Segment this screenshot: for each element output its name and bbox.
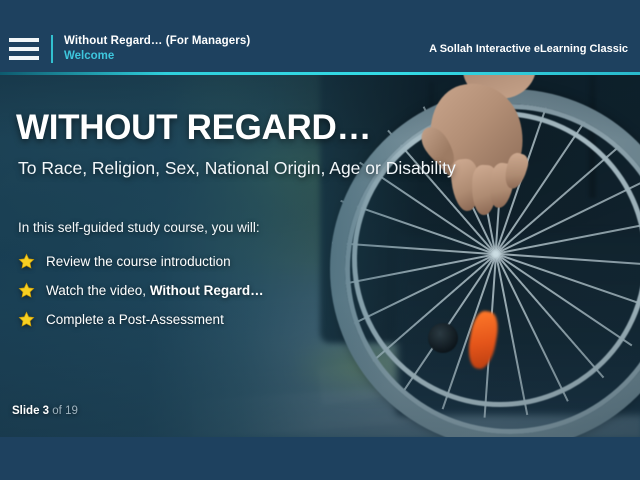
app-header: Without Regard… (For Managers) Welcome A… — [0, 0, 640, 74]
hamburger-bar-3 — [9, 56, 39, 60]
course-title: Without Regard… (For Managers) — [64, 36, 250, 48]
hamburger-bar-2 — [9, 47, 39, 51]
hamburger-menu-icon[interactable] — [9, 38, 39, 60]
elearning-slide-player: Without Regard… (For Managers) Welcome A… — [0, 0, 640, 480]
header-accent-rule — [0, 72, 640, 75]
list-item: Review the course introduction — [18, 247, 358, 276]
slide-lead-in: In this self-guided study course, you wi… — [18, 220, 260, 235]
hamburger-bar-1 — [9, 38, 39, 42]
app-footer — [0, 437, 640, 480]
section-label: Welcome — [64, 51, 250, 63]
slide-content: WITHOUT REGARD… To Race, Religion, Sex, … — [0, 75, 640, 437]
header-content: Without Regard… (For Managers) Welcome A… — [0, 24, 640, 74]
slide-title: WITHOUT REGARD… — [16, 108, 371, 148]
slide-counter: Slide 3 of 19 — [12, 405, 78, 417]
header-divider — [51, 35, 53, 63]
brand-label: A Sollah Interactive eLearning Classic — [429, 43, 628, 55]
header-title-group: Without Regard… (For Managers) Welcome — [64, 36, 250, 63]
objectives-list: Review the course introduction Watch the… — [18, 247, 358, 334]
list-item-label: Review the course introduction — [46, 254, 231, 269]
star-icon — [18, 282, 35, 299]
slide-stage: WITHOUT REGARD… To Race, Religion, Sex, … — [0, 75, 640, 437]
list-item-label: Watch the video, Without Regard… — [46, 283, 264, 298]
list-item: Complete a Post-Assessment — [18, 305, 358, 334]
star-icon — [18, 311, 35, 328]
star-icon — [18, 253, 35, 270]
slide-counter-current: Slide 3 — [12, 405, 49, 417]
list-item: Watch the video, Without Regard… — [18, 276, 358, 305]
slide-counter-total: of 19 — [52, 405, 78, 417]
list-item-label: Complete a Post-Assessment — [46, 312, 224, 327]
slide-subtitle: To Race, Religion, Sex, National Origin,… — [18, 158, 456, 179]
